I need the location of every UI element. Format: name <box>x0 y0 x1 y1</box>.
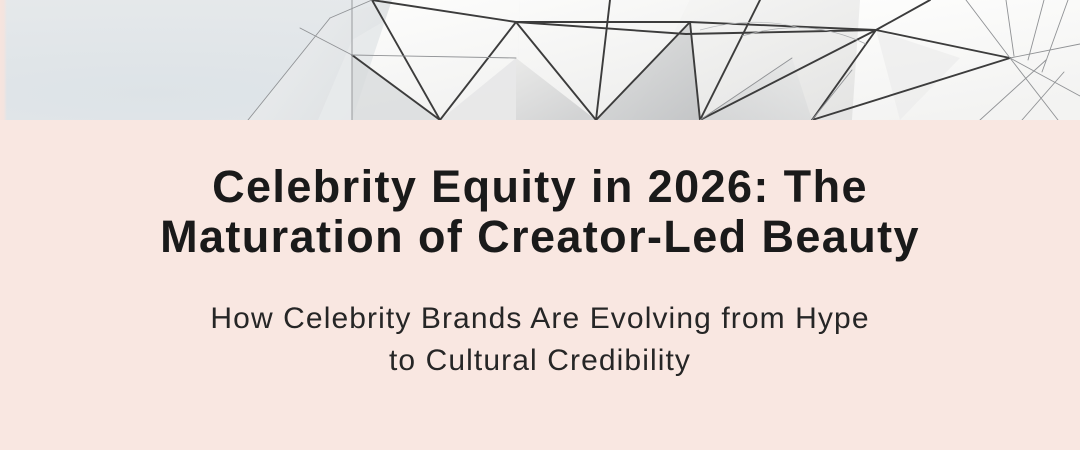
article-hero-page: Celebrity Equity in 2026: The Maturation… <box>0 0 1080 450</box>
page-title: Celebrity Equity in 2026: The Maturation… <box>0 162 1080 262</box>
headline-line-2: Maturation of Creator-Led Beauty <box>0 212 1080 262</box>
page-subtitle: How Celebrity Brands Are Evolving from H… <box>0 298 1080 382</box>
hero-left-edge-accent <box>0 0 7 120</box>
headline-line-1: Celebrity Equity in 2026: The <box>0 162 1080 212</box>
hero-image-band <box>0 0 1080 120</box>
subheadline-line-1: How Celebrity Brands Are Evolving from H… <box>0 298 1080 340</box>
subheadline-line-2: to Cultural Credibility <box>0 340 1080 382</box>
geometric-sculpture-photo <box>0 0 1080 120</box>
subheadline: How Celebrity Brands Are Evolving from H… <box>0 298 1080 382</box>
headline: Celebrity Equity in 2026: The Maturation… <box>0 162 1080 262</box>
article-header-band: Celebrity Equity in 2026: The Maturation… <box>0 120 1080 450</box>
